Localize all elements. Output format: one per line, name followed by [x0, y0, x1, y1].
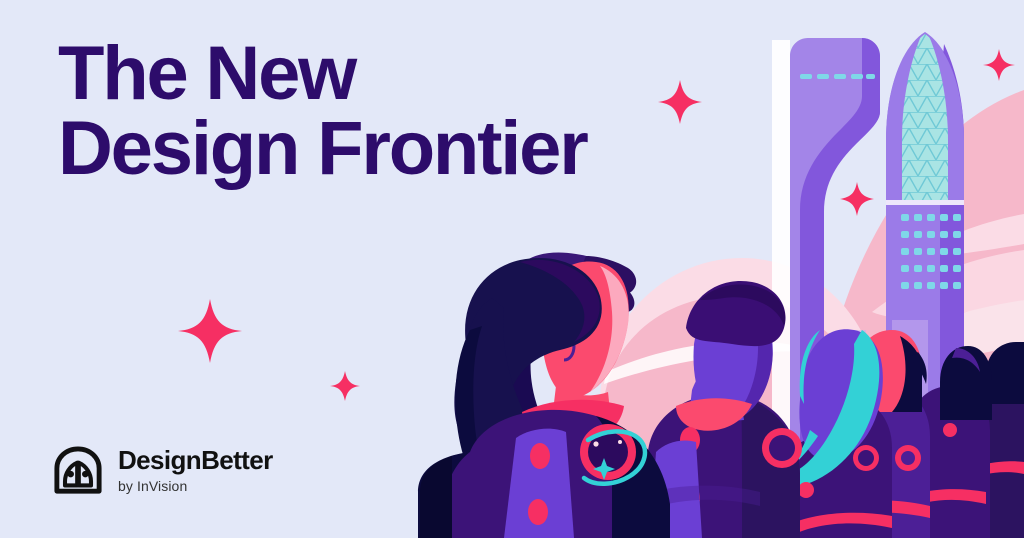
brand-name: DesignBetter [118, 447, 273, 473]
brand-text: DesignBetter by InVision [118, 447, 273, 493]
poster-canvas: The New Design Frontier DesignBetter by … [0, 0, 1024, 538]
brand-tagline: by InVision [118, 479, 273, 493]
astronaut-crowd [782, 329, 1024, 538]
second-shoulder-badge-core [769, 435, 795, 461]
chest-dot-upper [530, 443, 550, 469]
planet-badge-dot [593, 441, 598, 446]
headline-line-2: Design Frontier [58, 111, 587, 186]
owl-icon [52, 444, 104, 496]
headline-line-1: The New [58, 36, 587, 111]
brand-lockup: DesignBetter by InVision [52, 444, 273, 496]
chest-dot-lower [528, 499, 548, 525]
page-title: The New Design Frontier [58, 36, 587, 186]
rocket-seam [886, 200, 964, 205]
planet-badge-dot-2 [618, 440, 622, 444]
